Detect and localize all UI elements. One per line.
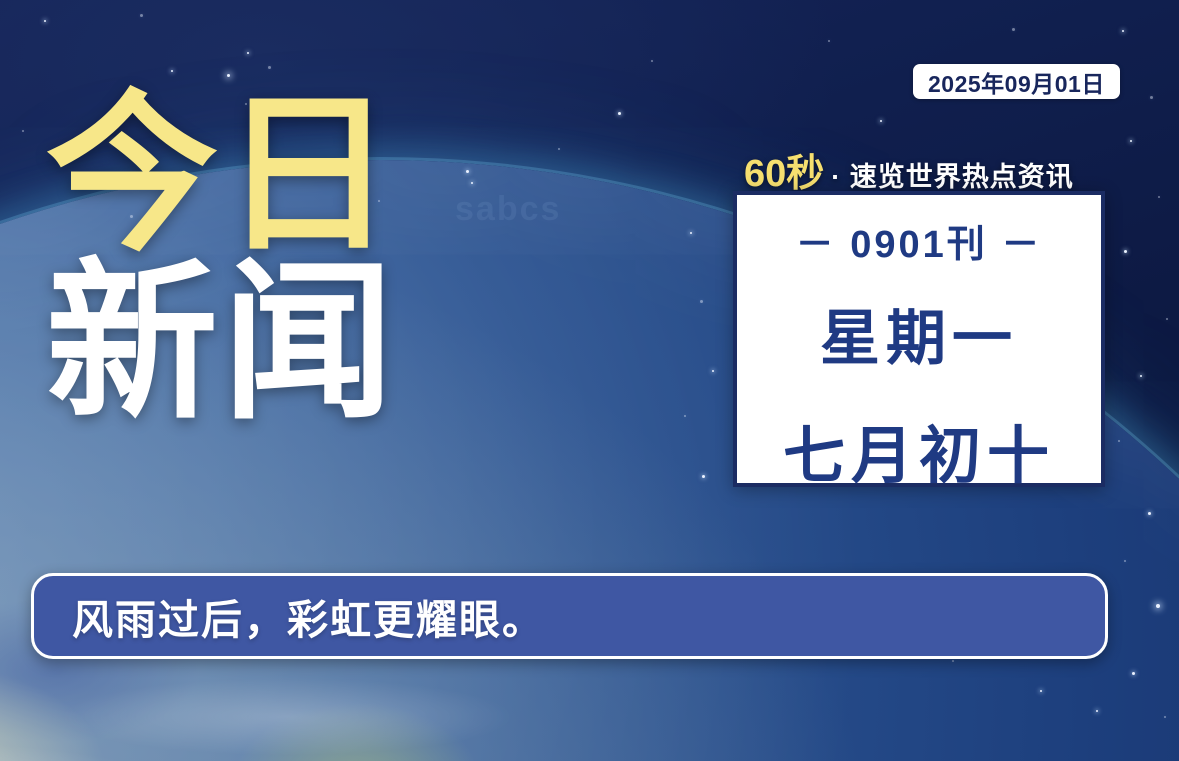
issue-number: － 0901刊 － bbox=[796, 213, 1043, 268]
tagline-description: · 速览世界热点资讯 bbox=[831, 155, 1074, 194]
tagline-seconds: 60秒 bbox=[744, 142, 824, 197]
weekday-label: 星期一 bbox=[820, 290, 1018, 377]
quote-banner: 风雨过后，彩虹更耀眼。 bbox=[31, 573, 1108, 659]
page-title-line-2: 新闻 bbox=[46, 264, 398, 422]
date-badge: 2025年09月01日 bbox=[913, 64, 1120, 99]
watermark: sabcs bbox=[455, 190, 561, 229]
page-title-line-1: 今日 bbox=[46, 96, 398, 254]
poster-canvas: sabcs 2025年09月01日 今日 新闻 60秒 · 速览世界热点资讯 －… bbox=[0, 0, 1179, 761]
tagline: 60秒 · 速览世界热点资讯 bbox=[744, 142, 1074, 197]
page-title: 今日 新闻 bbox=[46, 96, 398, 422]
info-card: － 0901刊 － 星期一 七月初十 bbox=[733, 191, 1105, 487]
quote-text: 风雨过后，彩虹更耀眼。 bbox=[72, 586, 545, 646]
lunar-date: 七月初十 bbox=[783, 405, 1055, 495]
